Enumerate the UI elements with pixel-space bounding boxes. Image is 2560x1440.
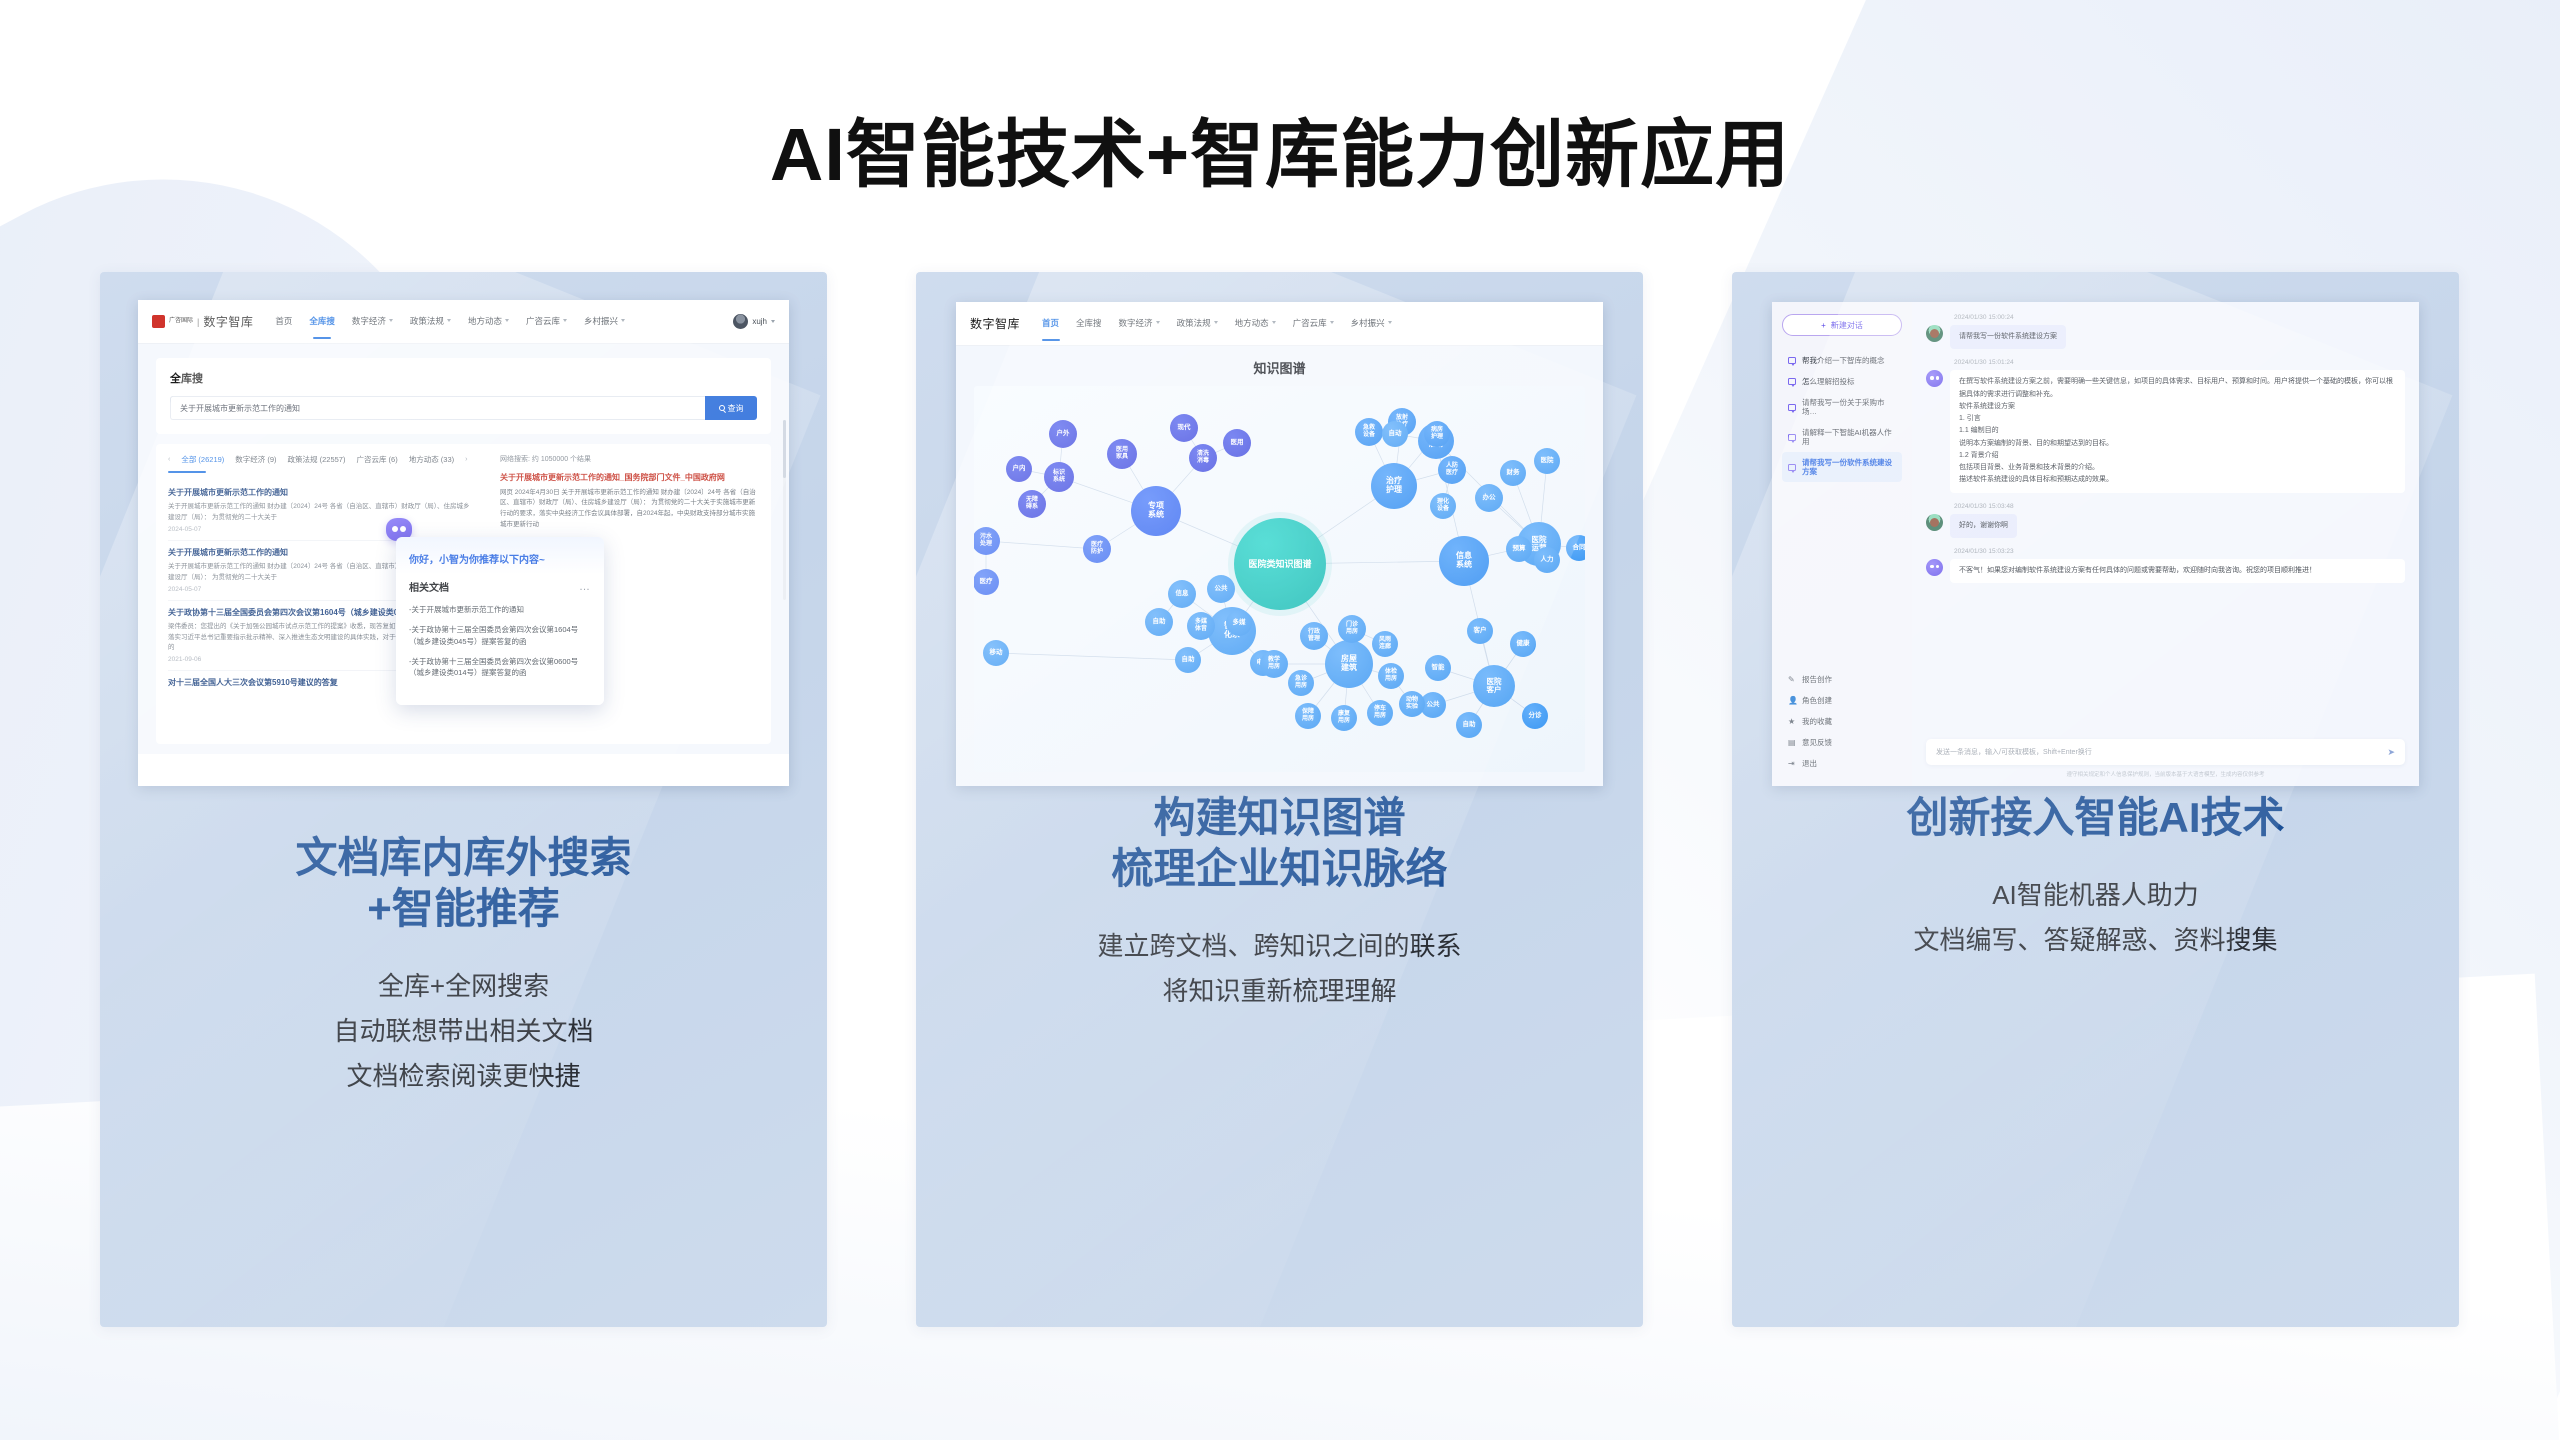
- graph-node[interactable]: 智能: [1425, 655, 1451, 681]
- caption-heading: 创新接入智能AI技术: [1732, 792, 2459, 843]
- node-label: 教学 用房: [1268, 657, 1280, 670]
- graph-node[interactable]: 康复 用房: [1331, 705, 1357, 731]
- node-label: 医疗: [980, 578, 993, 585]
- chevron-down-icon: [1156, 321, 1160, 324]
- node-label: 体检 用房: [1385, 669, 1397, 682]
- search-button[interactable]: 查询: [705, 396, 757, 420]
- graph-node[interactable]: 专项 系统: [1131, 486, 1181, 536]
- sidebar-item-label: 意见反馈: [1802, 737, 1832, 748]
- node-label: 现代: [1178, 424, 1191, 431]
- bot-avatar-icon: [1926, 559, 1943, 576]
- chevron-down-icon: [1272, 321, 1276, 324]
- ai-greeting: 你好，小智为你推荐以下内容~: [409, 551, 591, 566]
- node-label: 医院 客户: [1487, 678, 1502, 695]
- node-label: 户外: [1057, 430, 1070, 437]
- nav-list: 首页 全库搜 数字经济 政策法规 地方动态 广咨云库 乡村振兴: [1042, 317, 1392, 331]
- search-icon: [719, 405, 725, 411]
- user-name: xujh: [752, 317, 767, 326]
- brand-separator: |: [197, 317, 199, 327]
- chevron-down-icon: [771, 320, 775, 323]
- graph-node[interactable]: 自助: [1175, 647, 1201, 673]
- node-label: 风雨 连廊: [1379, 637, 1391, 650]
- graph-node[interactable]: 公共: [1207, 575, 1235, 603]
- star-icon: ★: [1788, 718, 1796, 726]
- nav-item-1[interactable]: 全库搜: [1076, 317, 1102, 331]
- nav-label: 地方动态: [1235, 317, 1269, 329]
- message-timestamp: 2024/01/30 15:03:23: [1926, 548, 2405, 555]
- plus-icon: +: [1821, 321, 1826, 330]
- message-timestamp: 2024/01/30 15:00:24: [1926, 314, 2405, 321]
- app-topnav: 广咨国际 | 数字智库 首页 全库搜 数字经济 政策法规 地方动态 广咨云库 乡…: [138, 300, 789, 344]
- graph-node[interactable]: 保障 用房: [1295, 703, 1321, 729]
- message-timestamp: 2024/01/30 15:03:48: [1926, 503, 2405, 510]
- screenshot-graph-app: 数字智库 首页 全库搜 数字经济 政策法规 地方动态 广咨云库 乡村振兴 知识图…: [956, 302, 1603, 786]
- chat-bubble-icon: [1788, 404, 1796, 411]
- message-text: 不客气！如果您对编制软件系统建设方案有任何具体的问题或需要帮助，欢迎随时向我咨询…: [1950, 559, 2405, 583]
- avatar: [733, 314, 748, 329]
- chevron-down-icon: [621, 319, 625, 322]
- message-text: 请帮我写一份软件系统建设方案: [1950, 325, 2066, 349]
- node-label: 急救 设备: [1363, 425, 1375, 438]
- graph-node[interactable]: 户外: [1049, 420, 1077, 448]
- nav-item-1[interactable]: 全库搜: [309, 315, 335, 329]
- graph-node[interactable]: 户内: [1006, 456, 1032, 482]
- sidebar-item-report[interactable]: ✎ 报告创作: [1782, 669, 1902, 690]
- caption-body: AI智能机器人助力 文档编写、答疑解惑、资料搜集: [1732, 873, 2459, 962]
- tabs-prev-arrow[interactable]: ‹: [168, 456, 170, 463]
- graph-node[interactable]: 病房 护理: [1424, 421, 1450, 447]
- graph-node[interactable]: 多媒: [1226, 610, 1252, 636]
- graph-node[interactable]: 健康: [1510, 631, 1536, 657]
- chat-bubble-icon: [1788, 378, 1796, 385]
- sidebar-item-favorites[interactable]: ★ 我的收藏: [1782, 711, 1902, 732]
- graph-node[interactable]: 医用 家具: [1107, 439, 1137, 469]
- chat-input-placeholder: 发送一条消息，输入/可获取模板，Shift+Enter换行: [1936, 747, 2092, 757]
- message-text: 在撰写软件系统建设方案之前，需要明确一些关键信息，如项目的具体需求、目标用户、预…: [1950, 370, 2405, 492]
- ai-doc-item[interactable]: -关于政协第十三届全国委员会第四次会议第0600号（城乡建设类014号）提案答复…: [409, 656, 591, 679]
- chat-message-bot: 2024/01/30 15:03:23 不客气！如果您对编制软件系统建设方案有任…: [1926, 548, 2405, 583]
- sidebar-item-label: 报告创作: [1802, 674, 1832, 685]
- node-label: 多媒 体音: [1195, 619, 1207, 632]
- pencil-icon: ✎: [1788, 676, 1796, 684]
- nav-label: 乡村振兴: [1351, 317, 1385, 329]
- node-label: 办公: [1483, 494, 1496, 501]
- graph-node[interactable]: 风雨 连廊: [1372, 631, 1398, 657]
- chat-history-item-4[interactable]: 请帮我写一份软件系统建设方案: [1782, 452, 1902, 482]
- chevron-down-icon: [1388, 321, 1392, 324]
- tab-1[interactable]: 数字经济 (9): [235, 454, 276, 465]
- chat-history-item-3[interactable]: 请解释一下智能AI机器人作用: [1782, 422, 1902, 452]
- ai-section-title: 相关文档: [409, 579, 449, 594]
- graph-node[interactable]: 清洗 消毒: [1189, 444, 1217, 472]
- graph-node[interactable]: 动物 实验: [1399, 691, 1425, 717]
- graph-node[interactable]: 财务: [1500, 460, 1526, 486]
- nav-item-3[interactable]: 政策法规: [1177, 317, 1218, 331]
- history-label: 请解释一下智能AI机器人作用: [1802, 428, 1896, 446]
- app-topnav: 数字智库 首页 全库搜 数字经济 政策法规 地方动态 广咨云库 乡村振兴: [956, 302, 1603, 346]
- knowledge-graph-body: 知识图谱 医院类知识图谱专项 系统治疗 护理信息 系统智能 化系房屋 建筑医院 …: [956, 346, 1603, 786]
- tab-4[interactable]: 地方动态 (33): [409, 454, 454, 465]
- graph-node[interactable]: 客户: [1467, 618, 1493, 644]
- node-label: 医院: [1541, 457, 1554, 464]
- chat-message-user: 2024/01/30 15:00:24 请帮我写一份软件系统建设方案: [1926, 314, 2405, 349]
- node-label: 财务: [1507, 469, 1520, 476]
- node-label: 急诊 用房: [1295, 676, 1307, 689]
- graph-canvas[interactable]: 医院类知识图谱专项 系统治疗 护理信息 系统智能 化系房屋 建筑医院 运营医院 …: [974, 386, 1585, 772]
- node-label: 门诊 用房: [1346, 622, 1358, 635]
- node-label: 信息: [1176, 590, 1189, 597]
- sidebar-item-label: 退出: [1802, 758, 1817, 769]
- result-title: 关于开展城市更新示范工作的通知: [168, 487, 476, 498]
- caption-body: 建立跨文档、跨知识之间的联系 将知识重新梳理理解: [916, 924, 1643, 1013]
- nav-item-4[interactable]: 地方动态: [468, 315, 509, 329]
- result-date: 2024-05-07: [168, 526, 476, 533]
- cards-row: 广咨国际 | 数字智库 首页 全库搜 数字经济 政策法规 地方动态 广咨云库 乡…: [0, 272, 2560, 1332]
- slide-page: AI智能技术+智库能力创新应用 广咨国际 | 数字智库 首页 全库搜 数字经济: [0, 0, 2560, 1440]
- node-label: 动物 实验: [1406, 697, 1418, 710]
- node-label: 行政 管理: [1308, 629, 1320, 642]
- logout-icon: ⇥: [1788, 760, 1796, 768]
- nav-item-4[interactable]: 地方动态: [1235, 317, 1276, 331]
- chevron-down-icon: [1214, 321, 1218, 324]
- ai-section-header: 相关文档 …: [409, 579, 591, 594]
- node-label: 移动: [990, 649, 1003, 656]
- nav-label: 政策法规: [410, 315, 444, 327]
- ai-recommend-popup: 你好，小智为你推荐以下内容~ 相关文档 … -关于开展城市更新示范工作的通知 -…: [396, 537, 604, 705]
- node-label: 治疗 护理: [1386, 477, 1402, 495]
- node-label: 公共: [1215, 585, 1228, 592]
- history-label: 帮我介绍一下智库的概念: [1802, 356, 1885, 365]
- nav-item-0[interactable]: 首页: [275, 315, 292, 329]
- card-search: 广咨国际 | 数字智库 首页 全库搜 数字经济 政策法规 地方动态 广咨云库 乡…: [100, 272, 827, 1327]
- sidebar-item-logout[interactable]: ⇥ 退出: [1782, 753, 1902, 774]
- chevron-down-icon: [563, 319, 567, 322]
- result-desc: 关于开展城市更新示范工作的通知 财办建〔2024〕24号 各省（自治区、直辖市）…: [168, 502, 476, 523]
- avatar: [1926, 514, 1943, 531]
- graph-node[interactable]: 急诊 用房: [1288, 670, 1314, 696]
- graph-node[interactable]: 门诊 用房: [1338, 615, 1366, 643]
- disclaimer-text: 遵守相关规定和个人信息保护规则，当前版本基于大语言模型，生成内容仅供参考: [1926, 770, 2405, 778]
- node-label: 专项 系统: [1148, 502, 1164, 520]
- node-label: 停车 用房: [1374, 706, 1386, 719]
- history-label: 请帮我写一份软件系统建设方案: [1802, 458, 1896, 476]
- node-label: 医院类知识图谱: [1248, 559, 1311, 569]
- ai-doc-item[interactable]: -关于开展城市更新示范工作的通知: [409, 604, 591, 615]
- chat-history-item-1[interactable]: 怎么理解招投标: [1782, 371, 1902, 392]
- node-label: 清洗 消毒: [1197, 451, 1209, 464]
- graph-node[interactable]: 信息: [1168, 580, 1196, 608]
- sidebar-item-feedback[interactable]: ▤ 意见反馈: [1782, 732, 1902, 753]
- node-label: 标识 系统: [1053, 470, 1065, 483]
- chat-bubble-icon: [1788, 464, 1796, 471]
- node-label: 医用 家具: [1116, 447, 1128, 460]
- graph-node[interactable]: 人防 医疗: [1438, 456, 1466, 484]
- brand-logo: 数字智库: [970, 315, 1020, 332]
- caption-heading: 构建知识图谱 梳理企业知识脉络: [916, 792, 1643, 894]
- graph-node[interactable]: 行政 管理: [1300, 622, 1328, 650]
- graph-node[interactable]: 体检 用房: [1378, 663, 1404, 689]
- nav-label: 广咨云库: [1293, 317, 1327, 329]
- nav-item-2[interactable]: 数字经济: [1119, 317, 1160, 331]
- card-knowledge-graph: 数字智库 首页 全库搜 数字经济 政策法规 地方动态 广咨云库 乡村振兴 知识图…: [916, 272, 1643, 1327]
- more-options-icon[interactable]: …: [579, 581, 591, 593]
- chevron-down-icon: [389, 319, 393, 322]
- graph-node[interactable]: 房屋 建筑: [1325, 640, 1373, 688]
- tab-3[interactable]: 广咨云库 (6): [356, 454, 397, 465]
- nav-label: 首页: [1042, 317, 1059, 329]
- node-label: 多媒: [1233, 619, 1246, 626]
- avatar: [1926, 325, 1943, 342]
- graph-node[interactable]: 预算: [1506, 536, 1532, 562]
- node-label: 人力: [1541, 556, 1554, 563]
- brand-mark-icon: [152, 315, 165, 328]
- chat-message-user: 2024/01/30 15:03:48 好的，谢谢你啊: [1926, 503, 2405, 538]
- result-item[interactable]: 关于开展城市更新示范工作的通知 关于开展城市更新示范工作的通知 财办建〔2024…: [168, 481, 476, 541]
- history-label: 怎么理解招投标: [1802, 377, 1855, 386]
- chat-bubble-icon: [1788, 434, 1796, 441]
- screenshot-search-app: 广咨国际 | 数字智库 首页 全库搜 数字经济 政策法规 地方动态 广咨云库 乡…: [138, 300, 789, 786]
- brand-logo: 广咨国际 | 数字智库: [152, 313, 253, 330]
- new-chat-label: 新建对话: [1831, 320, 1863, 331]
- graph-node[interactable]: 办公: [1475, 484, 1503, 512]
- nav-label: 乡村振兴: [584, 315, 618, 327]
- node-label: 信息 系统: [1456, 552, 1472, 570]
- graph-node[interactable]: 无障 碍系: [1018, 490, 1046, 518]
- sidebar-item-role[interactable]: 👤 角色创建: [1782, 690, 1902, 711]
- graph-node[interactable]: 医疗 防护: [1083, 535, 1111, 563]
- graph-title: 知识图谱: [956, 358, 1603, 377]
- caption-body: 全库+全网搜索 自动联想带出相关文档 文档检索阅读更快捷: [100, 964, 827, 1098]
- graph-node[interactable]: 医院: [1534, 448, 1560, 474]
- graph-node[interactable]: 移动: [983, 640, 1009, 666]
- web-result-count: 网络搜索: 约 1050000 个结果: [500, 454, 759, 464]
- node-label: 人防 医疗: [1446, 463, 1458, 476]
- brand-cn-label: 广咨国际: [169, 318, 193, 324]
- user-menu[interactable]: xujh: [733, 314, 775, 329]
- chat-main: 2024/01/30 15:00:24 请帮我写一份软件系统建设方案 2024/…: [1912, 302, 2419, 786]
- node-label: 保障 用房: [1302, 709, 1314, 722]
- chat-bubble-icon: [1788, 357, 1796, 364]
- nav-item-6[interactable]: 乡村振兴: [584, 315, 625, 329]
- nav-item-2[interactable]: 数字经济: [352, 315, 393, 329]
- tab-active-underline: [168, 471, 206, 473]
- brand-name-label: 数字智库: [203, 313, 253, 330]
- graph-node[interactable]: 医院 客户: [1473, 665, 1515, 707]
- node-label: 房屋 建筑: [1341, 655, 1357, 673]
- graph-node[interactable]: 多媒 体音: [1187, 612, 1215, 640]
- user-icon: 👤: [1788, 697, 1796, 705]
- node-label: 智能: [1432, 664, 1445, 671]
- screenshot-chat-app: + 新建对话 帮我介绍一下智库的概念 怎么理解招投标: [1772, 302, 2419, 786]
- nav-label: 数字经济: [352, 315, 386, 327]
- node-label: 康复 用房: [1338, 711, 1350, 724]
- nav-label: 全库搜: [1076, 317, 1102, 329]
- node-label: 病房 护理: [1431, 427, 1443, 440]
- new-chat-button[interactable]: + 新建对话: [1782, 314, 1902, 336]
- chevron-down-icon: [505, 319, 509, 322]
- card-caption: 文档库内库外搜索 +智能推荐 全库+全网搜索 自动联想带出相关文档 文档检索阅读…: [100, 832, 827, 1099]
- card-ai-chat: + 新建对话 帮我介绍一下智库的概念 怎么理解招投标: [1732, 272, 2459, 1327]
- node-label: 理化 设备: [1437, 499, 1449, 512]
- chevron-down-icon: [447, 319, 451, 322]
- card-caption: 构建知识图谱 梳理企业知识脉络 建立跨文档、跨知识之间的联系 将知识重新梳理理解: [916, 792, 1643, 1014]
- graph-node[interactable]: 现代: [1170, 414, 1198, 442]
- node-label: 无障 碍系: [1026, 497, 1038, 510]
- nav-label: 政策法规: [1177, 317, 1211, 329]
- node-label: 医疗 防护: [1091, 542, 1103, 555]
- brand-name-label: 数字智库: [970, 315, 1020, 332]
- history-label: 请帮我写一份关于采购市场…: [1802, 398, 1896, 416]
- nav-item-3[interactable]: 政策法规: [410, 315, 451, 329]
- caption-heading: 文档库内库外搜索 +智能推荐: [100, 832, 827, 934]
- search-input[interactable]: 关于开展城市更新示范工作的通知: [170, 396, 705, 420]
- chat-history-item-0[interactable]: 帮我介绍一下智库的概念: [1782, 350, 1902, 371]
- search-button-label: 查询: [728, 403, 744, 414]
- graph-node[interactable]: 标识 系统: [1044, 462, 1074, 492]
- search-panel-title: 全库搜: [170, 370, 757, 386]
- node-label: 健康: [1517, 640, 1530, 647]
- graph-node[interactable]: 理化 设备: [1430, 493, 1456, 519]
- graph-node[interactable]: 合同: [1566, 535, 1585, 561]
- graph-node[interactable]: 医用: [1223, 429, 1251, 457]
- node-label: 自动: [1389, 430, 1402, 437]
- web-result-title: 关于开展城市更新示范工作的通知_国务院部门文件_中国政府网: [500, 472, 759, 484]
- graph-node[interactable]: 治疗 护理: [1371, 463, 1417, 509]
- chat-input[interactable]: 发送一条消息，输入/可获取模板，Shift+Enter换行 ➤: [1926, 739, 2405, 765]
- search-panel: 全库搜 关于开展城市更新示范工作的通知 查询: [138, 344, 789, 444]
- node-label: 自助: [1153, 618, 1166, 625]
- send-icon[interactable]: ➤: [2387, 747, 2395, 758]
- graph-center-node[interactable]: 医院类知识图谱: [1234, 518, 1326, 610]
- tabs-next-arrow[interactable]: ›: [465, 456, 467, 463]
- sidebar-item-label: 角色创建: [1802, 695, 1832, 706]
- chat-layout: + 新建对话 帮我介绍一下智库的概念 怎么理解招投标: [1772, 302, 2419, 786]
- graph-node[interactable]: 停车 用房: [1367, 700, 1393, 726]
- sidebar-footer: ✎ 报告创作 👤 角色创建 ★ 我的收藏: [1782, 669, 1902, 774]
- message-text: 好的，谢谢你啊: [1950, 514, 2017, 538]
- node-label: 预算: [1513, 545, 1526, 552]
- card-caption: 创新接入智能AI技术 AI智能机器人助力 文档编写、答疑解惑、资料搜集: [1732, 792, 2459, 963]
- nav-list: 首页 全库搜 数字经济 政策法规 地方动态 广咨云库 乡村振兴: [275, 315, 625, 329]
- graph-node[interactable]: 自助: [1145, 608, 1173, 636]
- graph-node[interactable]: 自助: [1456, 712, 1482, 738]
- chat-message-bot: 2024/01/30 15:01:24 在撰写软件系统建设方案之前，需要明确一些…: [1926, 359, 2405, 492]
- node-label: 自助: [1463, 721, 1476, 728]
- form-icon: ▤: [1788, 739, 1796, 747]
- nav-label: 首页: [275, 315, 292, 327]
- nav-label: 地方动态: [468, 315, 502, 327]
- node-label: 污水 处理: [980, 534, 992, 547]
- chevron-down-icon: [1330, 321, 1334, 324]
- page-title: AI智能技术+智库能力创新应用: [0, 95, 2560, 202]
- bot-avatar-icon: [1926, 370, 1943, 387]
- node-label: 合同: [1573, 544, 1586, 551]
- ai-doc-item[interactable]: -关于政协第十三届全国委员会第四次会议第1604号（城乡建设类045号）提案答复…: [409, 624, 591, 647]
- nav-label: 数字经济: [1119, 317, 1153, 329]
- graph-node[interactable]: 信息 系统: [1439, 536, 1489, 586]
- node-label: 客户: [1474, 627, 1487, 634]
- node-label: 医用: [1231, 439, 1244, 446]
- chat-history-item-2[interactable]: 请帮我写一份关于采购市场…: [1782, 392, 1902, 422]
- node-label: 户内: [1013, 465, 1026, 472]
- nav-label: 全库搜: [309, 315, 335, 327]
- nav-item-5[interactable]: 广咨云库: [1293, 317, 1334, 331]
- nav-item-0[interactable]: 首页: [1042, 317, 1059, 331]
- node-label: 公共: [1427, 701, 1440, 708]
- graph-node[interactable]: 人力: [1534, 547, 1560, 573]
- web-result-desc: 网页 2024年4月30日 关于开展城市更新示范工作的通知 财办建〔2024〕2…: [500, 488, 759, 531]
- result-tabs: ‹ 全部 (26219) 数字经济 (9) 政策法规 (22557) 广咨云库 …: [168, 454, 476, 471]
- node-label: 自助: [1182, 656, 1195, 663]
- graph-node[interactable]: 自动: [1382, 421, 1408, 447]
- graph-node[interactable]: 教学 用房: [1260, 650, 1288, 678]
- sidebar-item-label: 我的收藏: [1802, 716, 1832, 727]
- graph-node[interactable]: 医疗: [974, 569, 999, 595]
- graph-node[interactable]: 分诊: [1522, 703, 1548, 729]
- message-timestamp: 2024/01/30 15:01:24: [1926, 359, 2405, 366]
- tab-0[interactable]: 全部 (26219): [181, 454, 224, 465]
- tab-2[interactable]: 政策法规 (22557): [288, 454, 346, 465]
- node-label: 分诊: [1529, 712, 1542, 719]
- nav-item-5[interactable]: 广咨云库: [526, 315, 567, 329]
- nav-item-6[interactable]: 乡村振兴: [1351, 317, 1392, 331]
- graph-node[interactable]: 急救 设备: [1355, 418, 1383, 446]
- chat-sidebar: + 新建对话 帮我介绍一下智库的概念 怎么理解招投标: [1772, 302, 1912, 786]
- nav-label: 广咨云库: [526, 315, 560, 327]
